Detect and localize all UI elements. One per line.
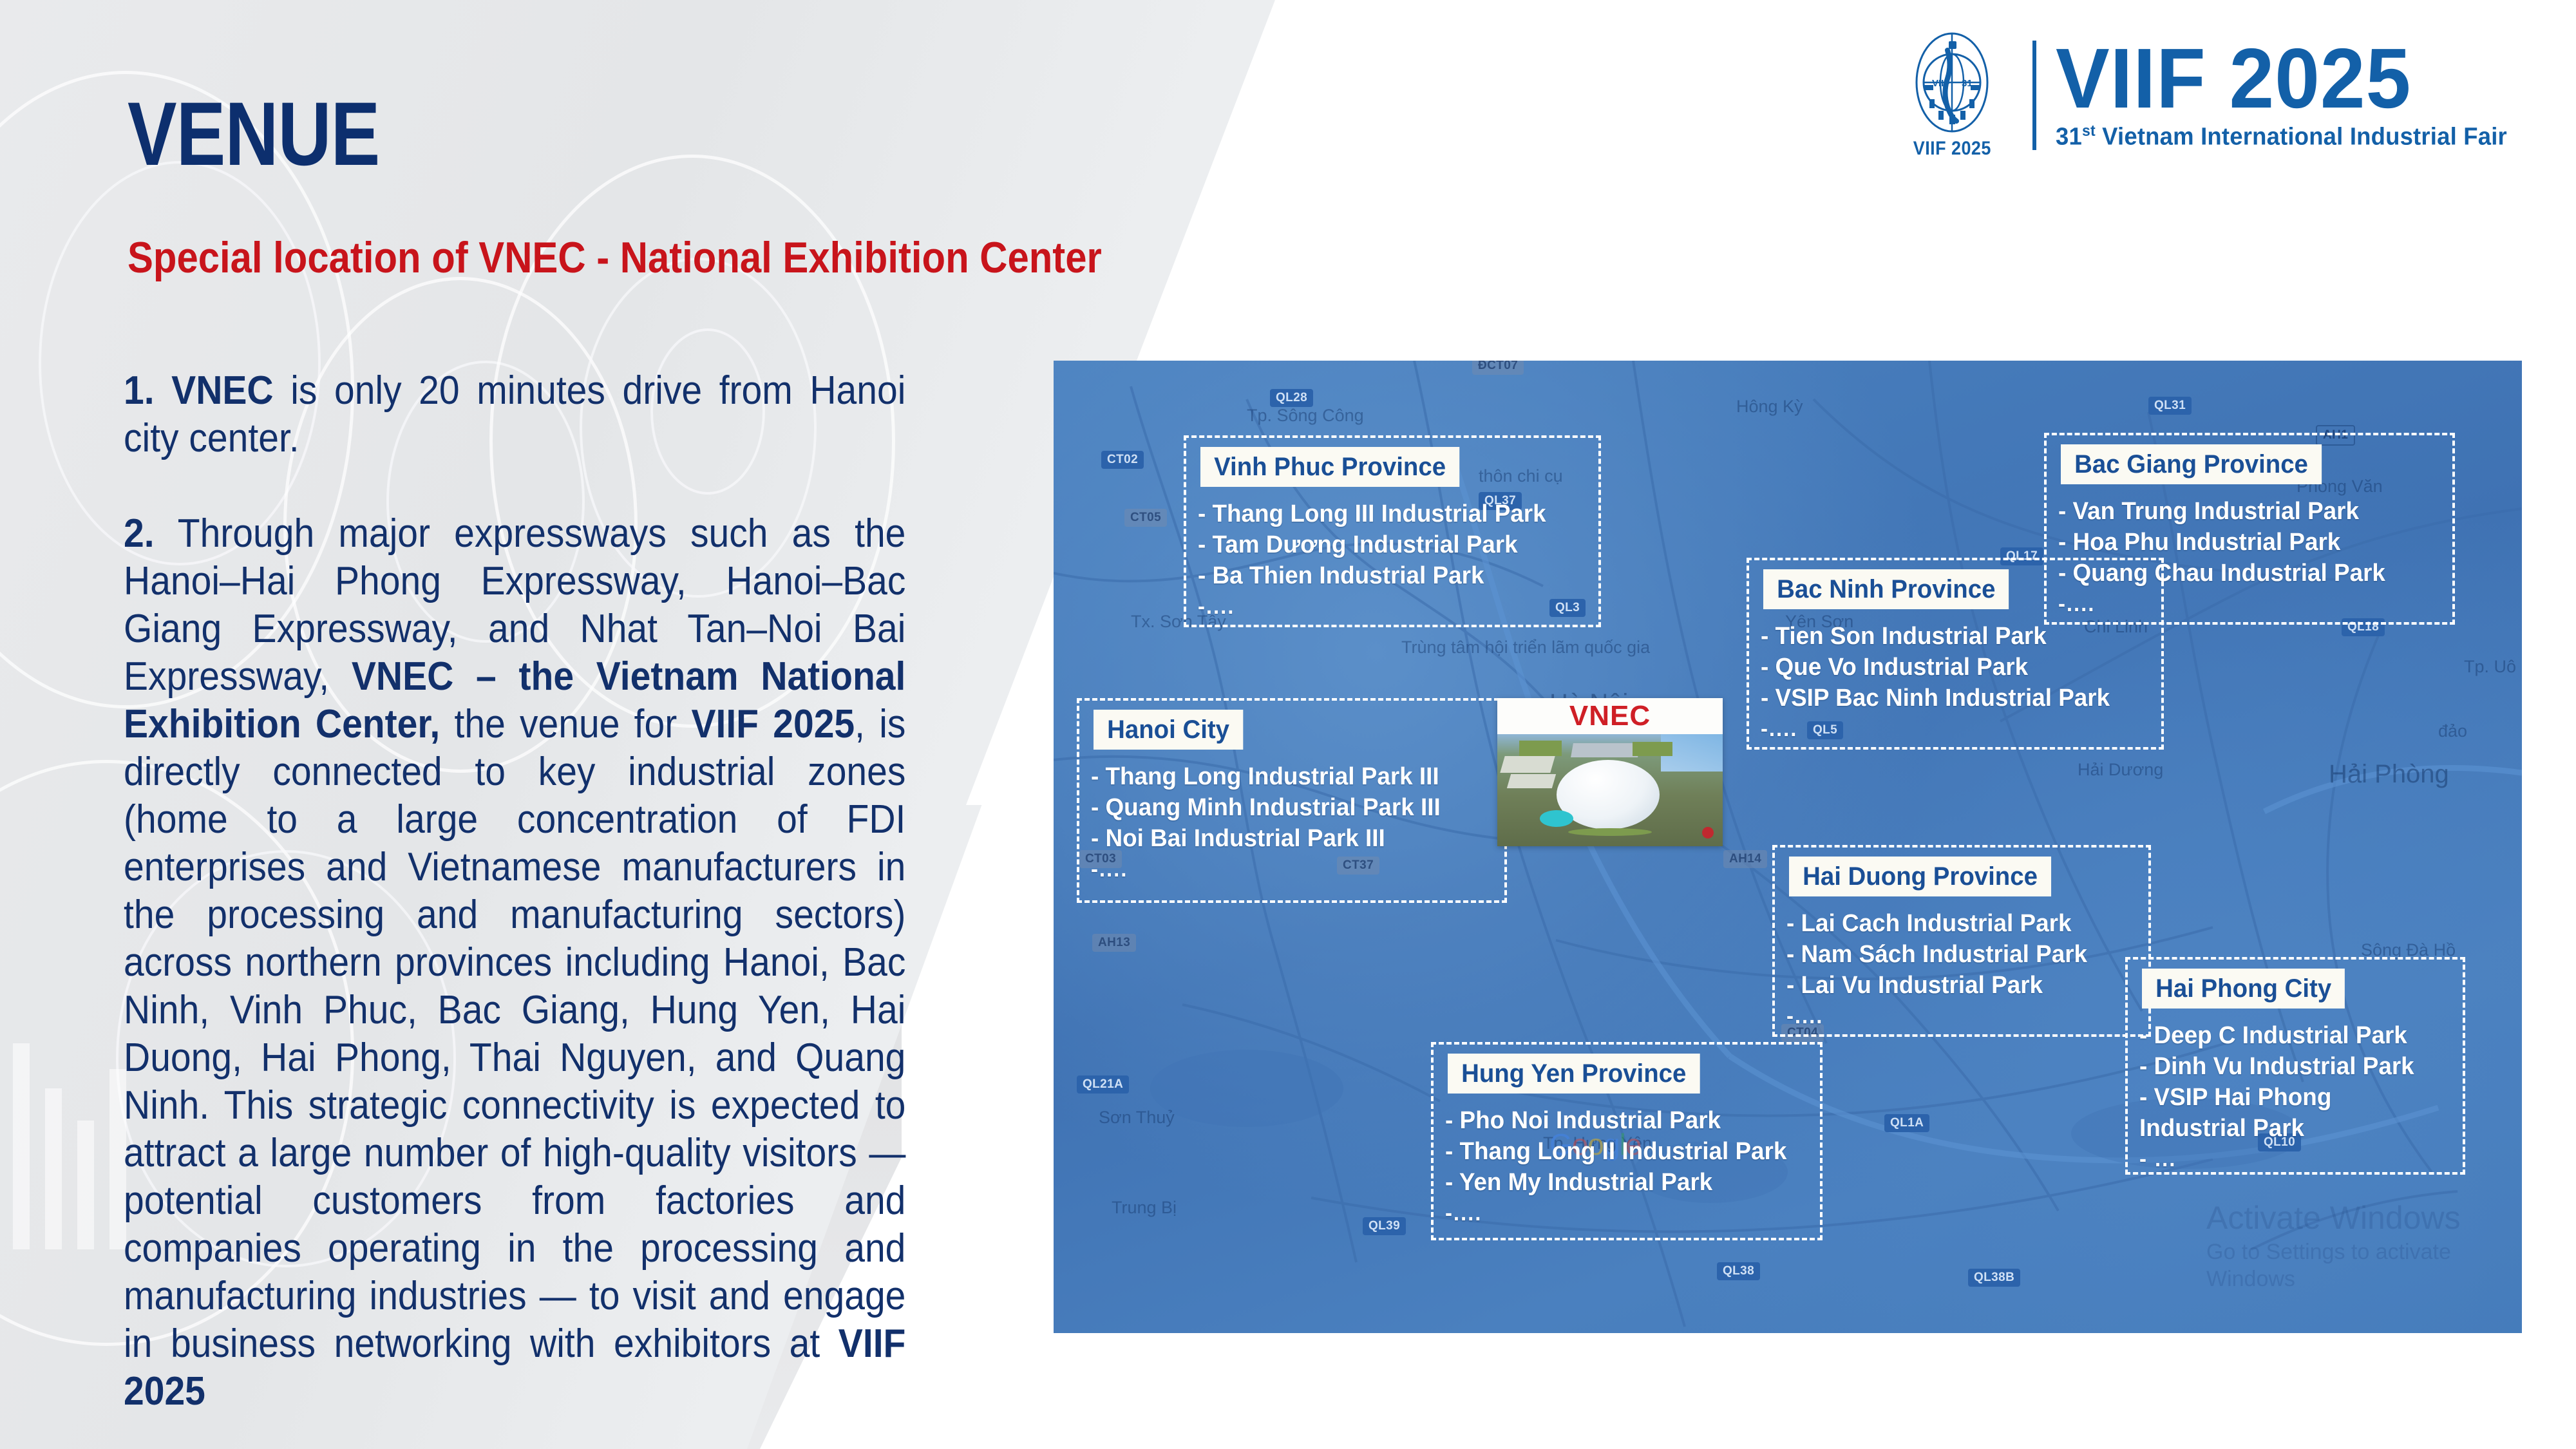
paragraph-2: 2. Through major expressways such as the…: [124, 510, 905, 1416]
road-shield: CT05: [1124, 509, 1167, 527]
callout-list: - Thang Long Industrial Park III - Quang…: [1091, 761, 1452, 885]
road-shield: QL1A: [1884, 1114, 1929, 1132]
road-shield: QL28: [1270, 389, 1313, 407]
callout-item: - Pho Noi Industrial Park: [1445, 1105, 1786, 1136]
callout-hai-phong[interactable]: Hai Phong City - Deep C Industrial Park …: [2125, 957, 2465, 1175]
viif-logo-text: VIIF 2025 31st Vietnam International Ind…: [2056, 39, 2526, 151]
map-place-label: Hải Phòng: [2329, 760, 2449, 789]
callout-item: Industrial Park: [2139, 1113, 2414, 1144]
callout-item: -....: [1445, 1198, 1786, 1229]
callout-item: - Thang Long III Industrial Park: [1198, 498, 1546, 529]
callout-item: - Van Trung Industrial Park: [2058, 496, 2385, 527]
watermark-bar-3: [77, 1121, 94, 1249]
photo-green-area: [1519, 741, 1562, 756]
callout-list: - Pho Noi Industrial Park - Thang Long I…: [1445, 1105, 1797, 1229]
paragraph-2-bold2: VIIF 2025: [691, 702, 855, 746]
photo-green-area: [1633, 742, 1672, 756]
callout-item: - Noi Bai Industrial Park III: [1091, 823, 1441, 854]
viif-tagline-sup: st: [2082, 122, 2096, 140]
callout-item: - Hoa Phu Industrial Park: [2058, 527, 2385, 558]
vnec-aerial-photo: [1497, 734, 1723, 846]
watermark-bar-2: [45, 1088, 62, 1249]
map-place-label: Sơn Thuỷ: [1099, 1108, 1175, 1128]
callout-item: - Que Vo Industrial Park: [1761, 652, 2110, 683]
logo-divider: [2032, 41, 2036, 150]
map-place-label: Hông Kỳ: [1736, 397, 1803, 417]
callout-item: -....: [1786, 1001, 2087, 1032]
callout-hai-duong[interactable]: Hai Duong Province - Lai Cach Industrial…: [1772, 845, 2151, 1037]
callout-item: - ...: [2139, 1144, 2414, 1175]
callout-list: - Deep C Industrial Park - Dinh Vu Indus…: [2139, 1020, 2423, 1175]
callout-title: Hanoi City: [1094, 710, 1243, 750]
callout-hanoi[interactable]: Hanoi City - Thang Long Industrial Park …: [1077, 698, 1507, 903]
map-place-label: Hải Dương: [2078, 760, 2163, 780]
viif-logo: VIIF 31 VIIF 2025 VIIF 2025 31st Vietnam…: [1891, 31, 2526, 160]
paragraph-1: 1. VNEC is only 20 minutes drive from Ha…: [124, 367, 905, 462]
watermark-bar-1: [13, 1043, 30, 1249]
callout-title: Bac Giang Province: [2061, 444, 2322, 484]
callout-item: - Yen My Industrial Park: [1445, 1167, 1786, 1198]
road-shield: AH13: [1092, 934, 1136, 952]
callout-item: - VSIP Hai Phong: [2139, 1082, 2414, 1113]
photo-building: [1500, 756, 1555, 773]
callout-item: - VSIP Bac Ninh Industrial Park: [1761, 683, 2110, 714]
photo-green-area: [1568, 828, 1652, 836]
callout-item: -....: [1761, 714, 2110, 744]
callout-item: - Ba Thien Industrial Park: [1198, 560, 1546, 591]
viif-wordmark: VIIF 2025: [2056, 39, 2503, 117]
callout-item: - Quang Minh Industrial Park III: [1091, 792, 1441, 823]
road-shield: AH14: [1723, 850, 1767, 868]
map-place-label: Tp. Sông Công: [1247, 406, 1364, 426]
svg-text:31: 31: [1962, 78, 1973, 89]
globe-gear-icon: VIIF 31: [1914, 31, 1990, 134]
activate-windows-line1: Activate Windows: [2206, 1198, 2522, 1238]
road-shield: QL39: [1363, 1217, 1406, 1235]
road-shield: QL38: [1717, 1262, 1760, 1280]
paragraph-2-part2: the venue for: [440, 702, 691, 746]
activate-windows-line2: Go to Settings to activate Windows: [2206, 1238, 2522, 1293]
photo-building: [1507, 774, 1556, 788]
callout-title: Hai Duong Province: [1789, 857, 2051, 896]
paragraph-2-part3: , is directly connected to key industria…: [124, 702, 905, 1366]
callout-item: -....: [1091, 854, 1441, 885]
viif-tagline-prefix: 31: [2056, 124, 2082, 151]
road-shield: QL31: [2148, 397, 2192, 415]
callout-list: - Tien Son Industrial Park - Que Vo Indu…: [1761, 621, 2121, 744]
callout-list: - Lai Cach Industrial Park - Nam Sách In…: [1786, 908, 2097, 1032]
paragraph-1-prefix: 1. VNEC: [124, 368, 274, 413]
callout-list: - Thang Long III Industrial Park - Tam D…: [1198, 498, 1557, 622]
callout-item: - Tam Dương Industrial Park: [1198, 529, 1546, 560]
map-place-label: đảo: [2438, 721, 2467, 741]
svg-text:VIIF: VIIF: [1932, 78, 1950, 89]
road-shield: QL21A: [1077, 1075, 1129, 1094]
callout-item: - Thang Long Industrial Park III: [1091, 761, 1441, 792]
vnec-photo-card[interactable]: VNEC: [1497, 698, 1723, 846]
photo-building: [1571, 743, 1640, 757]
page-subtitle: Special location of VNEC - National Exhi…: [128, 236, 1102, 279]
callout-item: -....: [1198, 591, 1546, 622]
callout-title: Hung Yen Province: [1448, 1054, 1700, 1094]
photo-map-pin: [1702, 827, 1714, 838]
callout-title: Vinh Phuc Province: [1200, 447, 1459, 487]
viif-tagline-rest: Vietnam International Industrial Fair: [2096, 124, 2507, 151]
vnec-marker-label: VNEC: [1497, 698, 1723, 734]
callout-item: - Lai Cach Industrial Park: [1786, 908, 2087, 939]
road-shield: QL38B: [1968, 1269, 2020, 1287]
callout-item: - Lai Vu Industrial Park: [1786, 970, 2087, 1001]
slide-root: VENUE Special location of VNEC - Nationa…: [0, 0, 2576, 1449]
callout-item: - Dinh Vu Industrial Park: [2139, 1051, 2414, 1082]
paragraph-2-number: 2.: [124, 511, 155, 556]
callout-hung-yen[interactable]: Hung Yen Province - Pho Noi Industrial P…: [1431, 1042, 1823, 1240]
viif-logo-mark-caption: VIIF 2025: [1913, 138, 1991, 160]
page-title: VENUE: [128, 89, 379, 179]
callout-title: Bac Ninh Province: [1763, 569, 2009, 609]
road-shield: ĐCT07: [1472, 361, 1524, 375]
map-place-label: Trùng tâm hội triển lãm quốc gia: [1401, 638, 1650, 658]
map-place-label: Tp. Uô: [2464, 657, 2516, 677]
viif-logo-mark: VIIF 31 VIIF 2025: [1891, 31, 2013, 160]
callout-item: - Nam Sách Industrial Park: [1786, 939, 2087, 970]
callout-item: - Thang Long II Industrial Park: [1445, 1136, 1786, 1167]
callout-title: Hai Phong City: [2142, 969, 2345, 1009]
viif-tagline: 31st Vietnam International Industrial Fa…: [2056, 122, 2507, 151]
photo-pond: [1540, 810, 1573, 827]
callout-item: - Deep C Industrial Park: [2139, 1020, 2414, 1051]
callout-vinh-phuc[interactable]: Vinh Phuc Province - Thang Long III Indu…: [1184, 435, 1601, 627]
road-shield: CT02: [1101, 451, 1144, 469]
callout-bac-ninh[interactable]: Bac Ninh Province - Tien Son Industrial …: [1747, 558, 2164, 750]
activate-windows-watermark: Activate Windows Go to Settings to activ…: [2206, 1198, 2522, 1293]
map-place-label: Trung Bị: [1112, 1198, 1177, 1218]
callout-item: - Tien Son Industrial Park: [1761, 621, 2110, 652]
body-copy: 1. VNEC is only 20 minutes drive from Ha…: [124, 367, 905, 1416]
